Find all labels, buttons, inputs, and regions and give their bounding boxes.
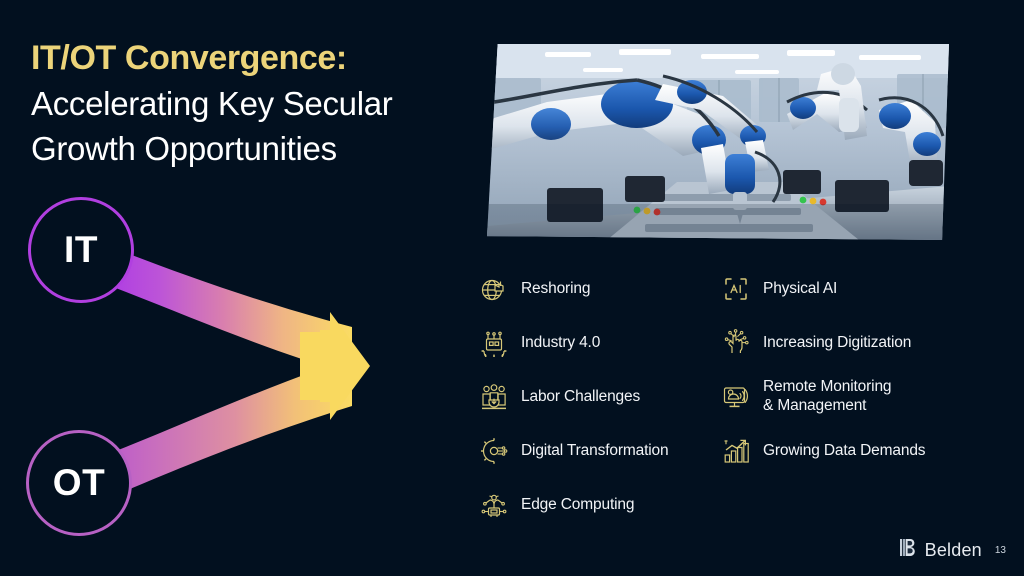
title-subline-1: Accelerating Key Secular bbox=[31, 82, 471, 126]
benefit-item-growing-data-demands[interactable]: Growing Data Demands bbox=[721, 424, 1001, 478]
benefit-label: Growing Data Demands bbox=[763, 442, 925, 461]
page-number: 13 bbox=[995, 545, 1006, 556]
node-ot[interactable]: OT bbox=[26, 430, 132, 536]
benefit-label: Labor Challenges bbox=[521, 388, 640, 407]
benefit-item-digital-transformation[interactable]: Digital Transformation bbox=[479, 424, 715, 478]
benefit-item-reshoring[interactable]: Reshoring bbox=[479, 262, 715, 316]
monitor-wireless-icon bbox=[721, 382, 751, 412]
benefit-item-labor-challenges[interactable]: Labor Challenges bbox=[479, 370, 715, 424]
node-ot-label: OT bbox=[53, 462, 105, 504]
edge-chip-network-icon bbox=[479, 490, 509, 520]
title-highlight-line: IT/OT Convergence: bbox=[31, 36, 471, 81]
gear-circuit-icon bbox=[479, 436, 509, 466]
title-subline-2: Growth Opportunities bbox=[31, 127, 471, 171]
bar-chart-growth-icon bbox=[721, 436, 751, 466]
benefit-label: Physical AI bbox=[763, 280, 837, 299]
ai-bracket-icon bbox=[721, 274, 751, 304]
belden-layered-b-logo bbox=[897, 537, 918, 563]
gear-factory-icon bbox=[479, 328, 509, 358]
page-title: IT/OT Convergence: Accelerating Key Secu… bbox=[31, 36, 471, 171]
factory-photo bbox=[487, 44, 949, 240]
benefit-item-industry-40[interactable]: Industry 4.0 bbox=[479, 316, 715, 370]
benefit-item-remote-monitoring[interactable]: Remote Monitoring & Management bbox=[721, 370, 1001, 424]
benefit-label: Reshoring bbox=[521, 280, 590, 299]
benefits-column-left: Reshoring bbox=[479, 262, 715, 532]
factory-robots-photo bbox=[487, 44, 949, 240]
benefit-label: Increasing Digitization bbox=[763, 334, 911, 353]
benefit-item-physical-ai[interactable]: Physical AI bbox=[721, 262, 1001, 316]
node-it-label: IT bbox=[64, 229, 98, 271]
benefit-item-increasing-digitization[interactable]: Increasing Digitization bbox=[721, 316, 1001, 370]
hand-circuit-icon bbox=[721, 328, 751, 358]
benefit-label: Industry 4.0 bbox=[521, 334, 600, 353]
benefit-label: Digital Transformation bbox=[521, 442, 668, 461]
footer: Belden 13 bbox=[897, 537, 1006, 563]
benefits-column-right: Physical AI bbox=[721, 262, 1001, 478]
brand-name: Belden bbox=[925, 540, 982, 561]
benefit-label: Remote Monitoring & Management bbox=[763, 378, 891, 416]
slide-canvas: IT/OT Convergence: Accelerating Key Secu… bbox=[0, 0, 1024, 576]
benefit-item-edge-computing[interactable]: Edge Computing bbox=[479, 478, 715, 532]
belden-logo: Belden bbox=[897, 537, 982, 563]
node-it[interactable]: IT bbox=[28, 197, 134, 303]
workers-icon bbox=[479, 382, 509, 412]
globe-factory-icon bbox=[479, 274, 509, 304]
benefit-label: Edge Computing bbox=[521, 496, 634, 515]
arrow-shaft bbox=[300, 332, 332, 400]
